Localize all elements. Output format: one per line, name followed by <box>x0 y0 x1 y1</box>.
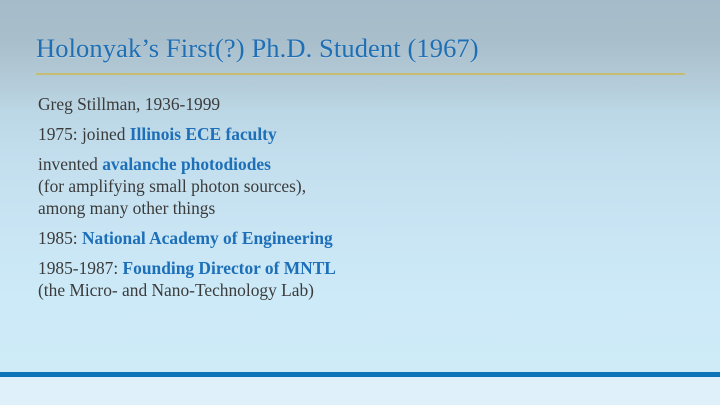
plain-text: invented <box>38 154 102 174</box>
plain-text: Greg Stillman, 1936-1999 <box>38 94 220 114</box>
title-block: Holonyak’s First(?) Ph.D. Student (1967) <box>36 32 686 64</box>
plain-text: 1975: joined <box>38 124 130 144</box>
presentation-slide: Holonyak’s First(?) Ph.D. Student (1967)… <box>0 0 720 405</box>
body-paragraph: Greg Stillman, 1936-1999 <box>38 93 678 115</box>
body-paragraph: invented avalanche photodiodes (for ampl… <box>38 153 678 220</box>
slide-body: Greg Stillman, 1936-1999 1975: joined Il… <box>38 93 678 301</box>
plain-text: 1985: <box>38 228 82 248</box>
footer: ECE 120: Introduction to Computing © 201… <box>0 377 720 405</box>
plain-text: (for amplifying small photon sources), a… <box>38 176 306 218</box>
highlighted-text: National Academy of Engineering <box>82 228 333 248</box>
title-underline-rule <box>36 73 685 75</box>
highlighted-text: Illinois ECE faculty <box>130 124 277 144</box>
page-title: Holonyak’s First(?) Ph.D. Student (1967) <box>36 32 686 64</box>
highlighted-text: avalanche photodiodes <box>102 154 271 174</box>
body-paragraph: 1985-1987: Founding Director of MNTL (th… <box>38 257 678 302</box>
body-paragraph: 1975: joined Illinois ECE faculty <box>38 123 678 145</box>
plain-text: (the Micro- and Nano-Technology Lab) <box>38 280 314 300</box>
highlighted-text: Founding Director of MNTL <box>123 258 336 278</box>
body-paragraph: 1985: National Academy of Engineering <box>38 227 678 249</box>
plain-text: 1985-1987: <box>38 258 123 278</box>
